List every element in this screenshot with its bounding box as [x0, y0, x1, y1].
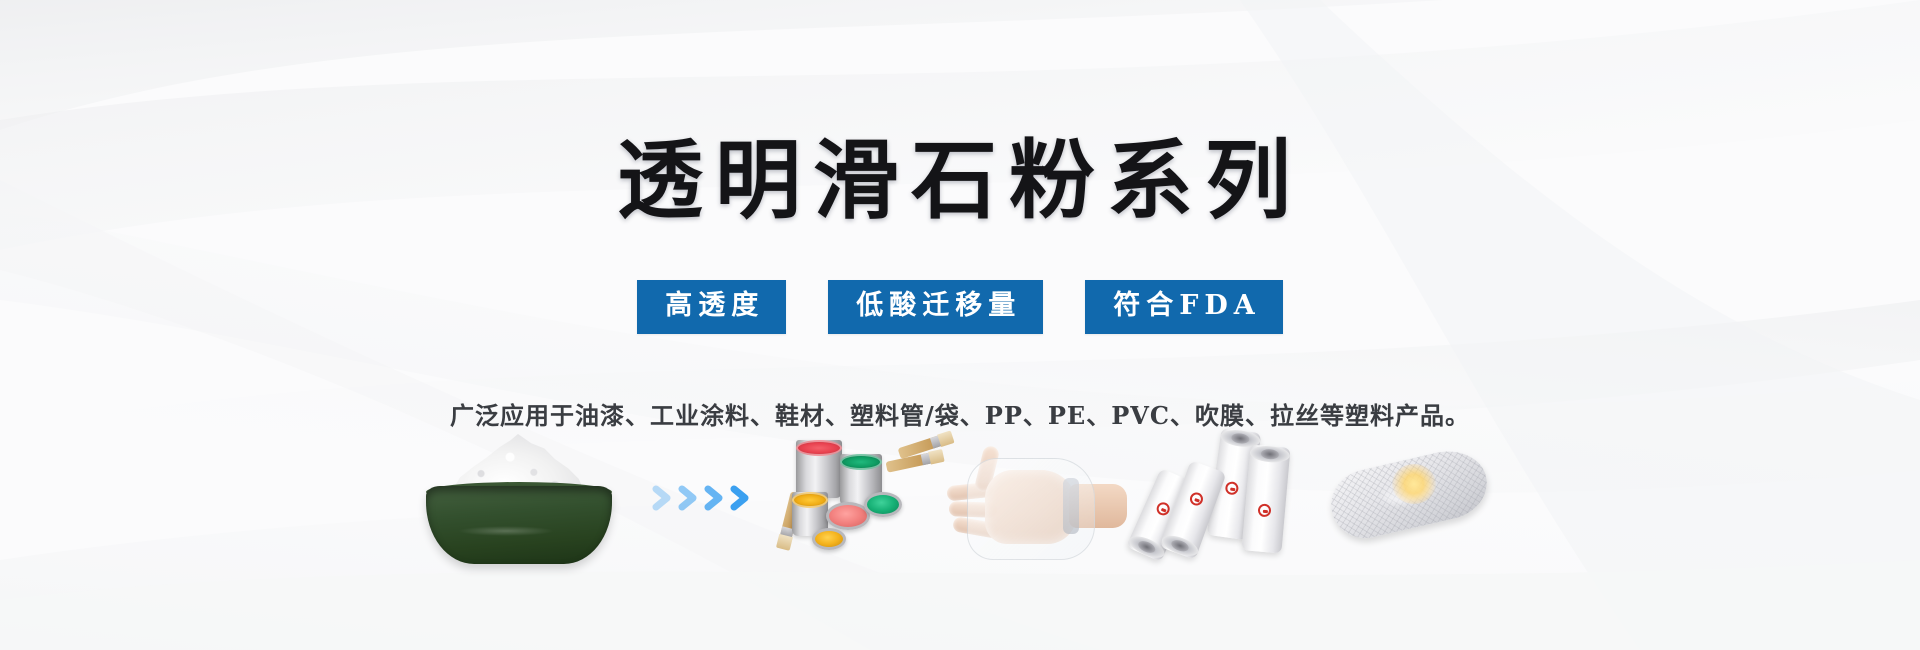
page-title: 透明滑石粉系列: [0, 136, 1920, 226]
badge-low-acid-migration[interactable]: 低酸迁移量: [828, 280, 1043, 334]
plastic-film-rolls-image: [1120, 428, 1310, 588]
paint-can-red: [796, 440, 842, 498]
application-description: 广泛应用于油漆、工业涂料、鞋材、塑料管/袋、PP、PE、PVC、吹膜、拉丝等塑料…: [0, 396, 1920, 431]
paint-lid-yellow: [812, 528, 846, 550]
transparent-glove-film: [967, 458, 1095, 560]
paint-cans-image: [790, 430, 970, 570]
paint-lid-green: [864, 492, 902, 517]
bowl-highlight: [458, 526, 554, 536]
product-image-strip: [0, 428, 1920, 608]
gloved-hand-image: [945, 428, 1125, 578]
product-banner: 透明滑石粉系列 高透度 低酸迁移量 符合FDA 广泛应用于油漆、工业涂料、鞋材、…: [0, 0, 1920, 650]
chevron-arrows-group: [650, 478, 770, 518]
green-bowl: [426, 486, 612, 564]
badge-high-transparency[interactable]: 高透度: [637, 280, 786, 334]
feature-badge-list: 高透度 低酸迁移量 符合FDA: [0, 280, 1920, 334]
shoe-sole-image: [1330, 442, 1490, 562]
sole-glow-highlight: [1392, 464, 1436, 504]
talc-powder-bowl-image: [418, 434, 618, 564]
badge-fda-compliant[interactable]: 符合FDA: [1085, 280, 1283, 334]
chevron-right-icon: [650, 478, 770, 518]
film-roll: [1241, 444, 1290, 553]
